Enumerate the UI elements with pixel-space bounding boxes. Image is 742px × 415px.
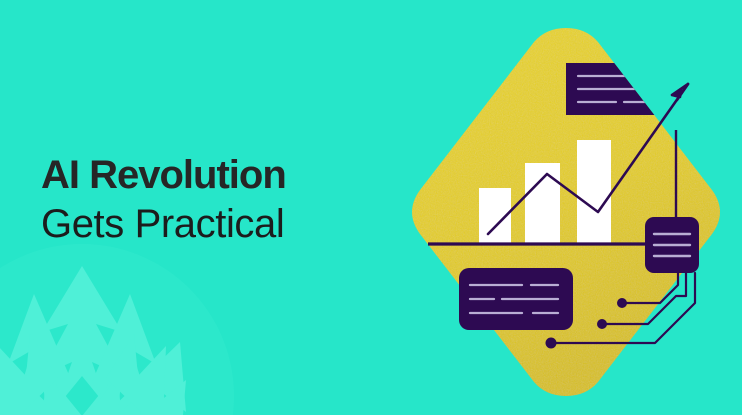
circuit-node-1 xyxy=(617,298,627,308)
right-node-card xyxy=(645,217,699,273)
circuit-node-2 xyxy=(597,319,607,329)
chart-bar-3 xyxy=(577,140,611,244)
chart-bar-2 xyxy=(525,163,560,244)
bottom-left-text-card xyxy=(459,268,573,330)
illustration-group xyxy=(0,0,742,415)
poster-canvas: AI Revolution Gets Practical xyxy=(0,0,742,415)
circuit-node-3 xyxy=(546,338,557,349)
